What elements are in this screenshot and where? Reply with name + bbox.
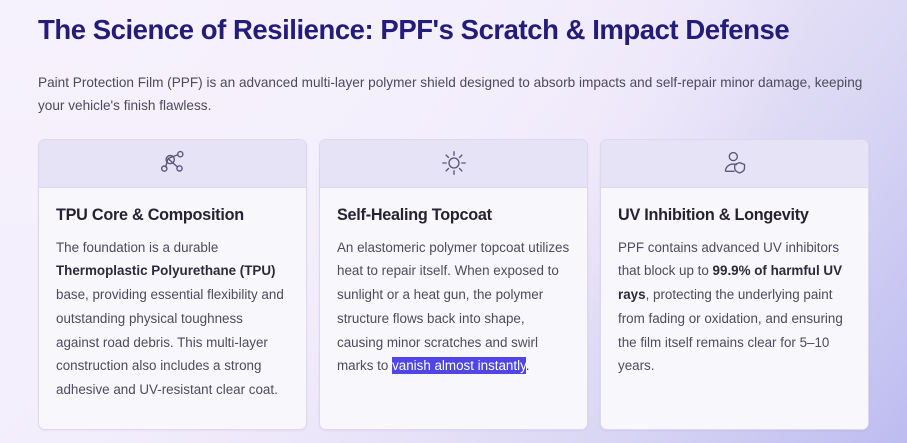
molecule-icon xyxy=(159,150,187,176)
feature-card-uv-inhibition[interactable]: UV Inhibition & Longevity PPF contains a… xyxy=(600,139,869,430)
card-body-uv-inhibition: UV Inhibition & Longevity PPF contains a… xyxy=(601,188,868,429)
card-text-lead: An elastomeric polymer topcoat utilizes … xyxy=(337,240,569,374)
card-text-tail: , protecting the underlying paint from f… xyxy=(618,287,843,373)
card-text: The foundation is a durable Thermoplasti… xyxy=(56,236,289,402)
card-header-uv-inhibition xyxy=(601,140,868,188)
card-title: Self-Healing Topcoat xyxy=(337,205,570,225)
user-shield-icon xyxy=(722,150,748,176)
page-title: The Science of Resilience: PPF's Scratch… xyxy=(38,12,869,48)
selected-text-highlight[interactable]: vanish almost instantly xyxy=(392,357,526,374)
card-text: PPF contains advanced UV inhibitors that… xyxy=(618,236,851,378)
feature-card-self-healing[interactable]: Self-Healing Topcoat An elastomeric poly… xyxy=(319,139,588,430)
sun-icon xyxy=(441,150,467,176)
feature-card-tpu-core[interactable]: TPU Core & Composition The foundation is… xyxy=(38,139,307,430)
card-text-emphasis: Thermoplastic Polyurethane (TPU) xyxy=(56,263,276,278)
card-header-tpu-core xyxy=(39,140,306,188)
card-title: UV Inhibition & Longevity xyxy=(618,205,851,225)
card-body-self-healing: Self-Healing Topcoat An elastomeric poly… xyxy=(320,188,587,429)
card-text-tail: base, providing essential flexibility an… xyxy=(56,287,284,397)
page-content: The Science of Resilience: PPF's Scratch… xyxy=(0,0,907,443)
intro-paragraph: Paint Protection Film (PPF) is an advanc… xyxy=(38,71,869,118)
card-text-lead: The foundation is a durable xyxy=(56,240,218,255)
card-body-tpu-core: TPU Core & Composition The foundation is… xyxy=(39,188,306,429)
card-title: TPU Core & Composition xyxy=(56,205,289,225)
card-header-self-healing xyxy=(320,140,587,188)
card-text-tail: . xyxy=(526,358,530,373)
feature-card-grid: TPU Core & Composition The foundation is… xyxy=(38,139,869,430)
card-text: An elastomeric polymer topcoat utilizes … xyxy=(337,236,570,378)
